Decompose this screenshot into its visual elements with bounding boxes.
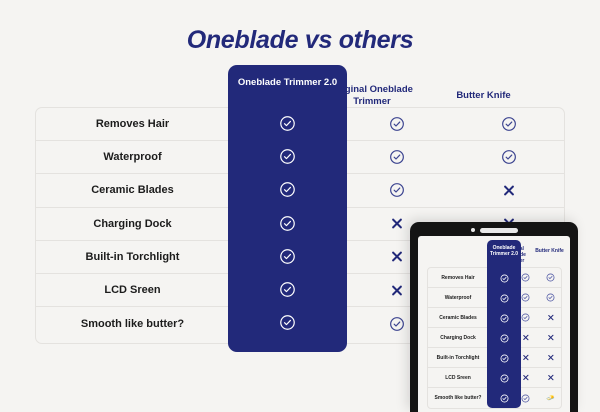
x-icon <box>391 217 404 230</box>
x-icon <box>547 374 554 381</box>
cell-original <box>341 149 453 165</box>
tablet-cell-butter <box>538 374 562 381</box>
x-icon <box>547 314 554 321</box>
tablet-cell-butter <box>538 273 562 282</box>
tablet-column-headers: Original Oneblade Trimmer Butter Knife <box>418 243 570 267</box>
tablet-topbar <box>410 226 578 234</box>
tablet-mockup: Original Oneblade Trimmer Butter Knife R… <box>410 222 578 412</box>
tablet-table-row: Charging Dock <box>428 328 561 348</box>
tablet-cell-butter <box>538 293 562 302</box>
tablet-cell-original <box>513 273 538 282</box>
x-icon <box>547 334 554 341</box>
column-header-butter-knife: Butter Knife <box>428 90 539 102</box>
tablet-row-label: Charging Dock <box>428 335 488 341</box>
check-circle-icon <box>501 116 517 132</box>
tablet-cell-original <box>513 354 538 361</box>
row-label: Smooth like butter? <box>36 318 229 330</box>
check-circle-icon <box>546 273 555 282</box>
tablet-column-header-butter-knife: Butter Knife <box>533 248 566 254</box>
tablet-row-label: Ceramic Blades <box>428 315 488 321</box>
x-icon <box>547 354 554 361</box>
check-circle-icon <box>389 149 405 165</box>
x-icon <box>502 184 515 197</box>
x-icon <box>522 334 529 341</box>
tablet-cell-butter: 🧈 <box>538 395 562 402</box>
tablet-row-label: Smooth like butter? <box>428 395 488 401</box>
check-circle-icon <box>389 116 405 132</box>
tablet-cell-original <box>513 293 538 302</box>
cell-butter <box>453 149 564 165</box>
tablet-column-header-original-oneblade-trimmer: Original Oneblade Trimmer <box>496 246 533 264</box>
tablet-cell-butter <box>538 354 562 361</box>
tablet-cell-original <box>513 313 538 322</box>
row-label: Ceramic Blades <box>36 184 229 196</box>
tablet-cell-butter <box>538 314 562 321</box>
tablet-table-row: Smooth like butter? 🧈 <box>428 388 561 408</box>
check-circle-icon <box>521 273 530 282</box>
row-label: Built-in Torchlight <box>36 251 229 263</box>
row-label: LCD Sreen <box>36 284 229 296</box>
column-header-original-oneblade-trimmer: Original Oneblade Trimmer <box>316 84 428 107</box>
check-circle-icon <box>521 313 530 322</box>
page-title: Oneblade vs others <box>0 26 600 55</box>
tablet-table-row: Waterproof <box>428 288 561 308</box>
row-label: Waterproof <box>36 151 229 163</box>
tablet-cell-original <box>513 394 538 403</box>
check-circle-icon <box>546 293 555 302</box>
cell-butter <box>453 184 564 197</box>
speaker-grill-icon <box>480 228 518 233</box>
cell-butter <box>453 116 564 132</box>
tablet-table-row: Built-in Torchlight <box>428 348 561 368</box>
row-label: Removes Hair <box>36 118 229 130</box>
tablet-row-label: LCD Sreen <box>428 375 488 381</box>
tablet-table-row: Removes Hair <box>428 268 561 288</box>
tablet-row-label: Waterproof <box>428 295 488 301</box>
table-row: Removes Hair <box>36 108 564 141</box>
tablet-cell-original <box>513 334 538 341</box>
tablet-cell-butter <box>538 334 562 341</box>
x-icon <box>522 354 529 361</box>
tablet-cell-original <box>513 374 538 381</box>
tablet-table-row: Ceramic Blades <box>428 308 561 328</box>
cell-original <box>341 182 453 198</box>
tablet-table-row: LCD Sreen <box>428 368 561 388</box>
cell-original <box>341 116 453 132</box>
tablet-comparison-table: Removes Hair Waterproof Ceramic Blades C… <box>427 267 562 409</box>
check-circle-icon <box>521 394 530 403</box>
tablet-row-label: Removes Hair <box>428 275 488 281</box>
camera-dot-icon <box>471 228 475 232</box>
x-icon <box>391 284 404 297</box>
table-row: Waterproof <box>36 141 564 174</box>
table-row: Ceramic Blades <box>36 174 564 207</box>
check-circle-icon <box>389 182 405 198</box>
check-circle-icon <box>389 316 405 332</box>
x-icon <box>522 374 529 381</box>
check-circle-icon <box>501 149 517 165</box>
check-circle-icon <box>521 293 530 302</box>
butter-emoji-icon: 🧈 <box>546 395 555 402</box>
row-label: Charging Dock <box>36 218 229 230</box>
tablet-screen: Original Oneblade Trimmer Butter Knife R… <box>418 236 570 412</box>
x-icon <box>391 250 404 263</box>
tablet-row-label: Built-in Torchlight <box>428 355 488 361</box>
